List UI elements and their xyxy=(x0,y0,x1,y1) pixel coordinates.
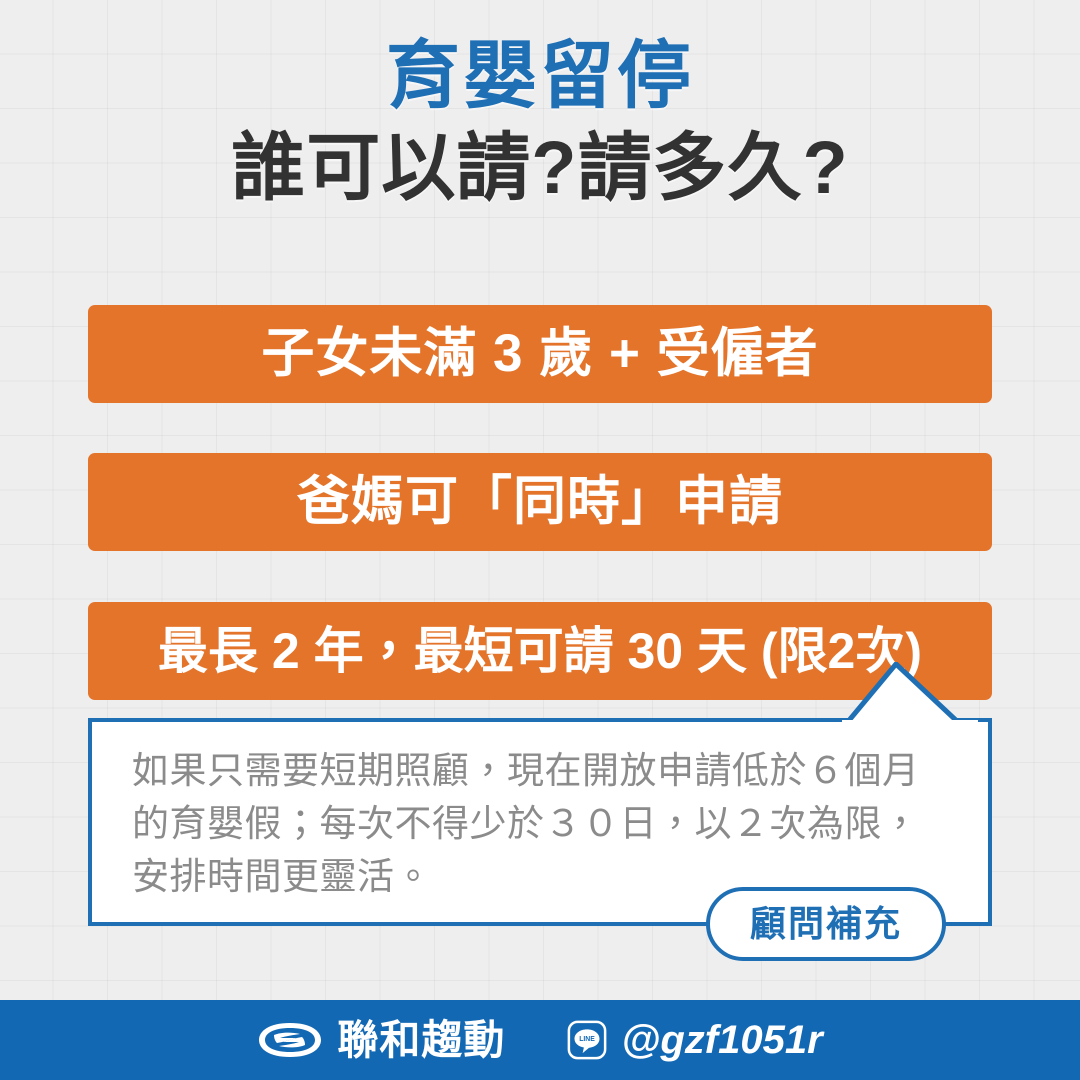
highlight-bar-label: 最長 2 年，最短可請 30 天 (限2次) xyxy=(158,622,922,680)
line-icon-wordmark: LINE xyxy=(580,1036,596,1043)
poster-title: 育嬰留停 誰可以請?請多久? xyxy=(0,34,1080,212)
advisor-badge: 顧問補充 xyxy=(706,887,946,961)
poster-canvas: 育嬰留停 誰可以請?請多久? 子女未滿 3 歲 + 受僱者 爸媽可「同時」申請 … xyxy=(0,0,1080,1080)
callout-line: 如果只需要短期照顧，現在開放申請低於６個月 xyxy=(132,744,960,797)
highlight-bar-eligibility: 子女未滿 3 歲 + 受僱者 xyxy=(88,305,992,403)
callout-line: 的育嬰假；每次不得少於３０日，以２次為限， xyxy=(132,797,960,850)
highlight-bar-label: 子女未滿 3 歲 + 受僱者 xyxy=(261,325,818,383)
highlight-bar-label: 爸媽可「同時」申請 xyxy=(297,473,783,531)
advisor-badge-label: 顧問補充 xyxy=(750,904,902,944)
highlight-bar-duration: 最長 2 年，最短可請 30 天 (限2次) xyxy=(88,602,992,700)
footer-content: 聯和趨動 LINE @gzf1051r xyxy=(257,1018,822,1062)
footer-bar: 聯和趨動 LINE @gzf1051r xyxy=(0,1000,1080,1080)
highlight-bar-simultaneous: 爸媽可「同時」申請 xyxy=(88,453,992,551)
brand-name-label: 聯和趨動 xyxy=(337,1018,505,1062)
swoosh-logo-icon xyxy=(257,1020,323,1060)
line-app-icon: LINE xyxy=(567,1020,607,1060)
line-handle-label: @gzf1051r xyxy=(621,1018,822,1062)
title-line-secondary: 誰可以請?請多久? xyxy=(0,124,1080,212)
advisor-callout-text: 如果只需要短期照顧，現在開放申請低於６個月 的育嬰假；每次不得少於３０日，以２次… xyxy=(132,744,960,903)
title-line-primary: 育嬰留停 xyxy=(0,34,1080,118)
